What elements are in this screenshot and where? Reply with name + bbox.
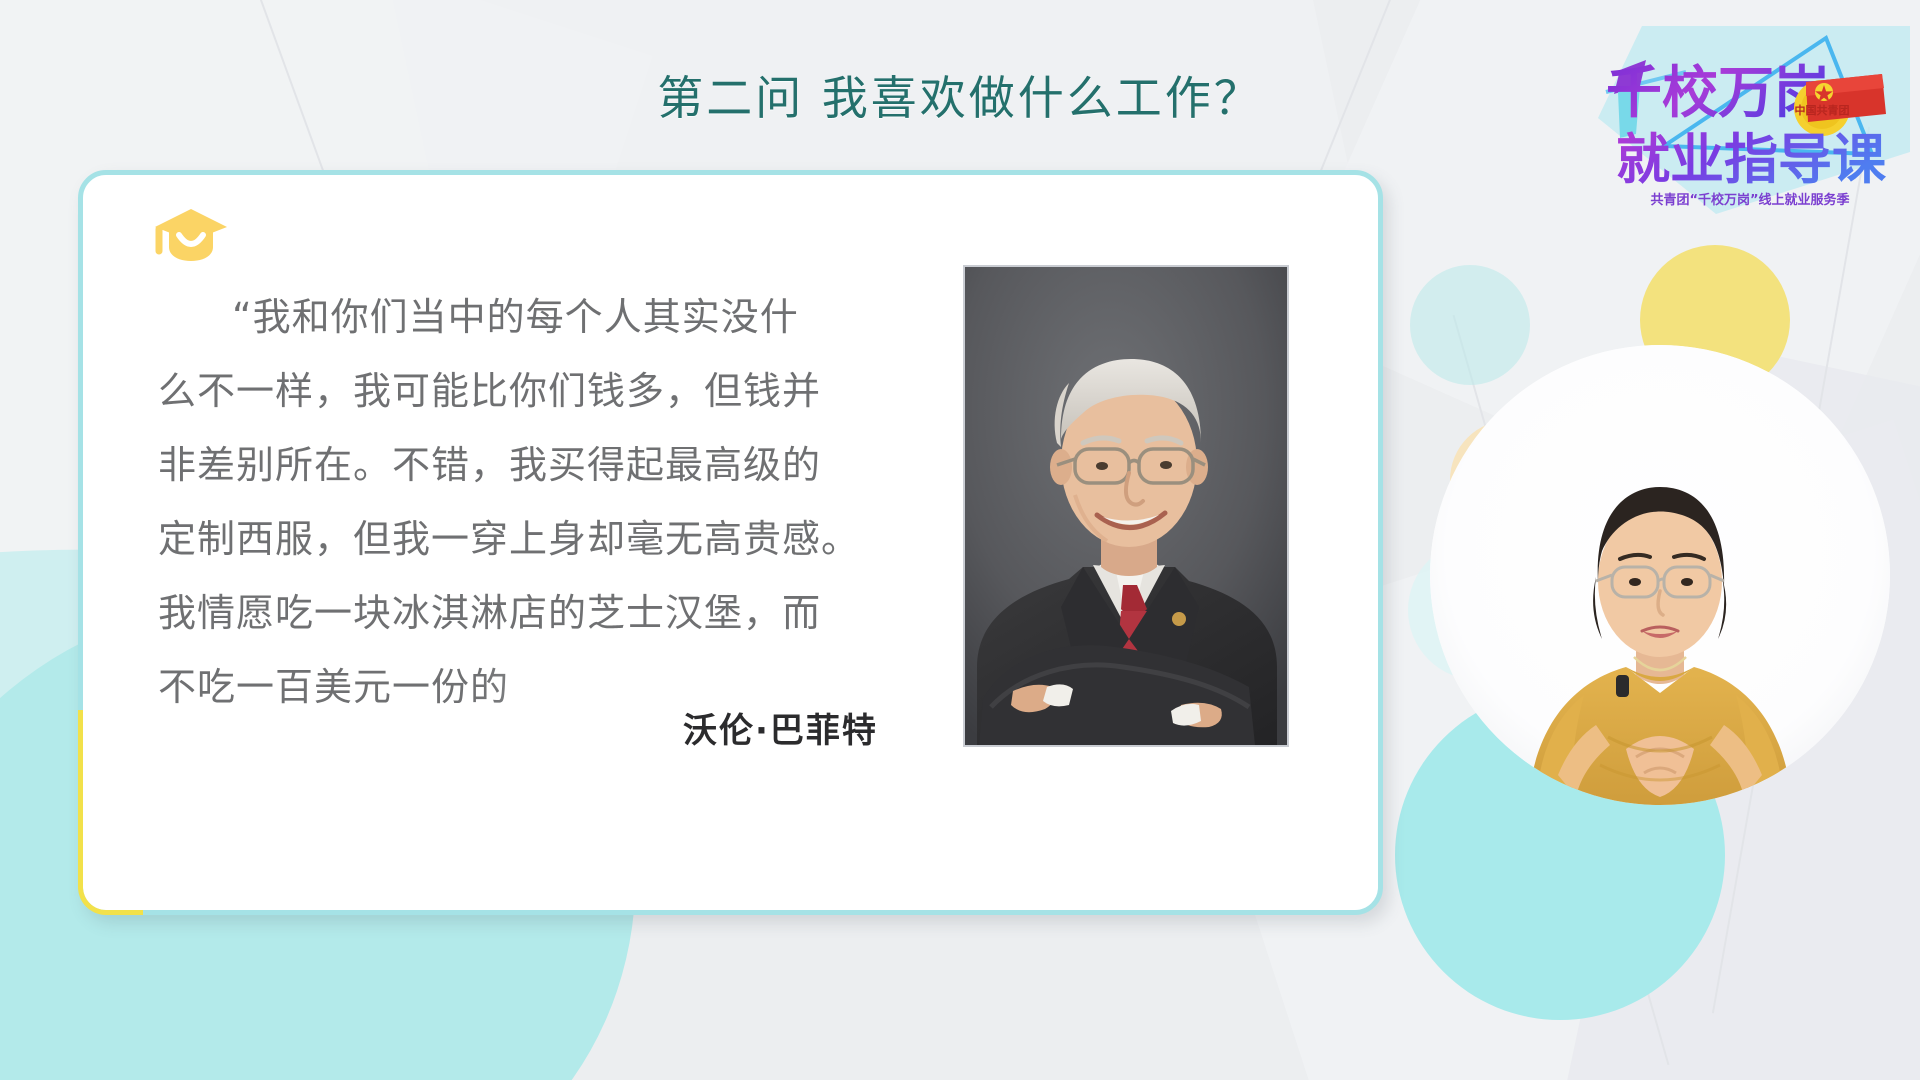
quote-line: 非差别所在。不错，我买得起最高级的: [158, 428, 918, 502]
program-logo: 千校万岗 中国共青团 就业指导课 共青团“千校万岗”线上就业服务季: [1590, 26, 1910, 256]
logo-line2: 就业指导课: [1616, 128, 1887, 191]
buffett-portrait: [963, 265, 1289, 747]
quote-line: “我和你们当中的每个人其实没什: [158, 280, 918, 354]
quote-text: “我和你们当中的每个人其实没什 么不一样，我可能比你们钱多，但钱并 非差别所在。…: [158, 280, 918, 724]
presenter-video: [1430, 345, 1890, 805]
quote-attribution: 沃伦·巴菲特: [683, 703, 878, 752]
slide-stage: 第二问 我喜欢做什么工作？ “我和你们当中的每个人其实没什 么不一样，我可能比你…: [0, 0, 1920, 1080]
logo-subtitle: 共青团“千校万岗”线上就业服务季: [1650, 192, 1849, 208]
background-circle-cyan-small: [1410, 265, 1530, 385]
quote-line: 定制西服，但我一穿上身却毫无高贵感。: [158, 502, 918, 576]
quote-line: 么不一样，我可能比你们钱多，但钱并: [158, 354, 918, 428]
quote-card: “我和你们当中的每个人其实没什 么不一样，我可能比你们钱多，但钱并 非差别所在。…: [78, 170, 1383, 915]
svg-text:中国共青团: 中国共青团: [1795, 103, 1850, 117]
graduation-cap-icon: [153, 207, 229, 263]
quote-line: 我情愿吃一块冰淇淋店的芝士汉堡，而: [158, 576, 918, 650]
